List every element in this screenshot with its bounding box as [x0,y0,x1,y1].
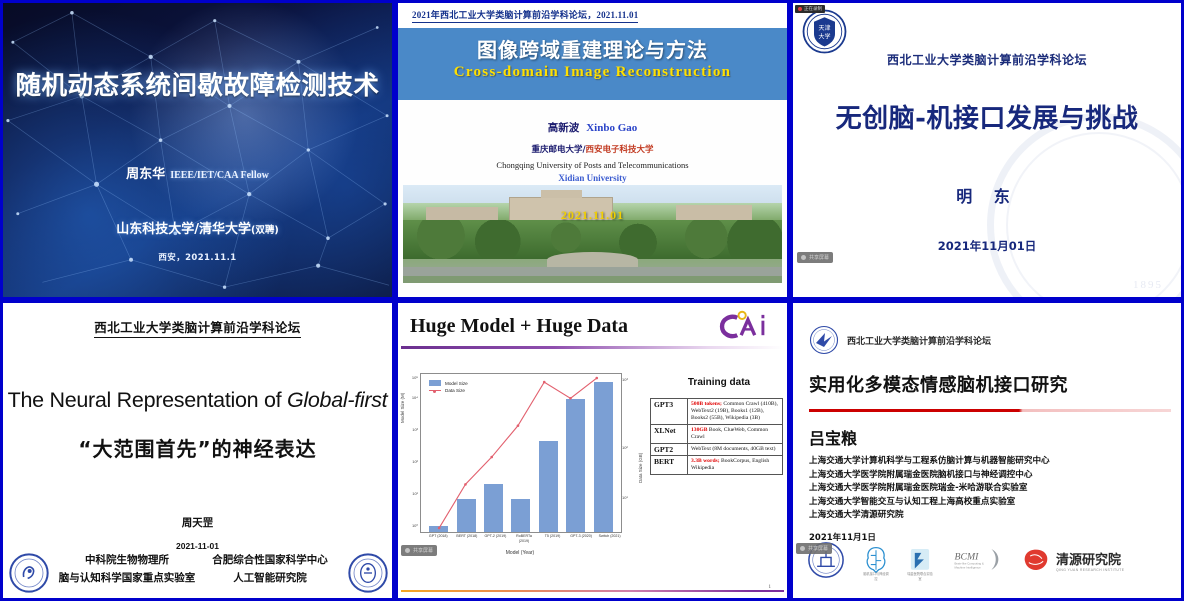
y2tick-2: 10³ [622,377,628,382]
screen-share-chip[interactable]: 共享屏幕 [401,545,437,556]
table-cell-detail: 130GB Book, ClueWeb, Common Crawl [688,425,783,444]
org-left-line-1: 中科院生物物理所 [47,551,207,569]
organization-left: 中科院生物物理所 脑与认知科学国家重点实验室 [47,551,207,587]
forum-header: 2021年西北工业大学类脑计算前沿学科论坛，2021.11.01 [412,8,638,23]
org-cn-primary: 重庆邮电大学/ [531,145,585,155]
training-data-title: Training data [650,377,788,388]
record-dot-icon [798,7,802,11]
hefei-ai-institute-seal-icon [348,553,388,593]
recording-indicator-chip: 正在录制 [795,5,825,13]
recording-label: 正在录制 [804,6,822,12]
svg-text:大学: 大学 [818,32,830,40]
table-cell-highlight: 3.3B words; [691,458,720,464]
panel-title: Huge Model + Huge Data [410,315,628,338]
table-cell-model: XLNet [651,425,688,444]
author-english: Xinbo Gao [586,122,637,134]
affiliation-suffix: (双聘) [251,225,279,236]
qingyuan-logo: 清源研究院 QING YUAN RESEARCH INSTITUTE [1021,540,1124,580]
ytick-2: 10² [412,459,418,464]
chart-y-axis-ticks: 10⁰ 10¹ 10² 10³ 10⁴ 10⁵ [404,373,418,531]
panel-title: 无创脑-机接口发展与挑战 [793,98,1181,135]
forum-header: 西北工业大学类脑计算前沿学科论坛 [3,317,392,336]
org-cn-secondary: 西安电子科技大学 [586,145,654,155]
y2tick-1: 10² [622,445,628,450]
author-chinese: 高新波 [548,122,580,134]
title-chinese: 图像跨域重建理论与方法 [398,34,787,63]
forum-subtitle: 西北工业大学类脑计算前沿学科论坛 [793,51,1181,68]
share-label: 共享屏幕 [413,547,433,554]
title-english: The Neural Representation of Global-firs… [3,388,392,413]
bcmi-sub-2: Machine Intelligence [954,566,981,570]
ytick-5: 10⁵ [412,375,418,380]
presenter-name: 周天罡 [3,515,392,530]
organization-right: 合肥综合性国家科学中心 人工智能研究院 [190,551,350,587]
slide-panel-cross-domain[interactable]: 2021年西北工业大学类脑计算前沿学科论坛，2021.11.01 图像跨域重建理… [395,0,790,300]
model-size-chart: Model Size Data Size [420,373,622,533]
forum-header-text: 西北工业大学类脑计算前沿学科论坛 [94,320,300,338]
affiliation-main: 山东科技大学/清华大学 [116,222,251,237]
presenter-name: 明 东 [793,183,1181,207]
presenter-affiliation: 山东科技大学/清华大学(双聘) [3,218,392,237]
presenter-name: 吕宝粮 [809,425,857,449]
slide-panel-affective-bci[interactable]: 西北工业大学类脑计算前沿学科论坛 实用化多模态情感脑机接口研究 吕宝粮 上海交通… [790,300,1184,601]
title-underline-rule [809,409,1171,412]
presentation-date: 2021-11-01 [3,541,392,551]
presentation-date: 2021年11月01日 [793,238,1181,254]
table-cell-highlight: 500B tokens; [691,401,722,407]
photo-lawn [403,276,782,283]
title-english-plain: The Neural Representation of [8,388,287,412]
qingyuan-label-cn: 清源研究院 [1056,549,1124,568]
ytick-0: 10⁰ [412,523,418,528]
xtick-switch: Switch (2021) [598,534,622,544]
chart-y-axis-label: Model Size (M) [400,393,405,423]
presenter-name: 周东华 [126,167,165,182]
panel-title: 实用化多模态情感脑机接口研究 [809,371,1068,397]
chart-x-axis-ticks: GPT (2018) BERT (2018) GPT-2 (2019) RoBE… [420,534,628,544]
slide-panel-stochastic-fault[interactable]: 随机动态系统间歇故障检测技术 周东华IEEE/IET/CAA Fellow 山东… [0,0,395,300]
organization-chinese: 重庆邮电大学/西安电子科技大学 [398,143,787,155]
campus-photo [403,185,782,283]
affiliation-line: 上海交通大学医学院附属瑞金医院脑机接口与神经调控中心 [809,469,1050,483]
slide-header-bar: 2021年西北工业大学类脑计算前沿学科论坛，2021.11.01 [398,3,787,28]
qingyuan-brain-icon [1021,547,1051,573]
logo-caption: 瑞金医院联合实验室 [907,571,933,581]
table-cell-detail: WebText (8M documents, 40GB text) [688,444,783,456]
presentation-date: 西安，2021.11.1 [3,251,392,263]
table-cell-model: GPT3 [651,399,688,425]
forum-header: 西北工业大学类脑计算前沿学科论坛 [847,334,991,347]
affiliation-line: 上海交通大学智能交互与认知工程上海高校重点实验室 [809,496,1050,510]
chart-x-axis-label: Model (Year) [420,550,620,556]
screen-share-chip[interactable]: 共享屏幕 [796,543,832,554]
table-cell-text: WebText (8M documents, 40GB text) [691,446,775,452]
title-underline-rule [401,346,784,349]
share-label: 共享屏幕 [808,545,828,552]
slide-panel-huge-model[interactable]: Huge Model + Huge Data Model Size Data S… [395,300,790,601]
presenter-line: 周东华IEEE/IET/CAA Fellow [3,163,392,183]
slide-panel-global-first[interactable]: 西北工业大学类脑计算前沿学科论坛 The Neural Representati… [0,300,395,601]
slide-grid-screenshot: 随机动态系统间歇故障检测技术 周东华IEEE/IET/CAA Fellow 山东… [0,0,1184,601]
share-screen-icon [800,546,805,551]
bcmi-sub-1: Brain-like Computing & [954,562,983,566]
presentation-date: 2021.11.01 [398,208,787,223]
footer-rule [401,590,784,592]
presenter-fellowship: IEEE/IET/CAA Fellow [170,170,269,181]
data-size-line-series [421,374,621,532]
photo-plaza [547,252,638,268]
xtick-gpt: GPT (2018) [426,534,450,544]
title-chinese: “大范围首先”的神经表达 [3,433,392,462]
ytick-4: 10⁴ [412,395,418,400]
xtick-t5: T5 (2019) [541,534,565,544]
xtick-gpt2: GPT-2 (2019) [483,534,507,544]
svg-text:BCMI: BCMI [954,551,979,562]
affiliation-line: 上海交通大学计算机科学与工程系仿脑计算与机器智能研究中心 [809,455,1050,469]
title-band: 图像跨域重建理论与方法 Cross-domain Image Reconstru… [398,28,787,100]
author-line: 高新波Xinbo Gao [398,118,787,136]
table-cell-detail: 3.3B words; BookCorpus, English Wikipedi… [688,456,783,475]
table-row: XLNet 130GB Book, ClueWeb, Common Crawl [651,425,783,444]
share-screen-icon [405,548,410,553]
qingyuan-label-en: QING YUAN RESEARCH INSTITUTE [1056,568,1124,572]
cas-biophysics-seal-icon [9,553,49,593]
org-left-line-2: 脑与认知科学国家重点实验室 [47,569,207,587]
y2tick-0: 10¹ [622,495,628,500]
title-english: Cross-domain Image Reconstruction [398,64,787,81]
table-row: GPT3 500B tokens; Common Crawl (410B), W… [651,399,783,425]
svg-text:天津: 天津 [818,25,830,32]
xtick-bert: BERT (2018) [455,534,479,544]
share-label: 共享屏幕 [809,254,829,261]
ytick-1: 10¹ [412,491,418,496]
organization-english-2: Xidian University [398,173,787,183]
affiliation-line: 上海交通大学清源研究院 [809,509,1050,523]
affiliation-line: 上海交通大学医学院附属瑞金医院瑞金-米哈游联合实验室 [809,482,1050,496]
table-cell-detail: 500B tokens; Common Crawl (410B), WebTex… [688,399,783,425]
bcmi-icon: BCMI Brain-like Computing & Machine Inte… [951,545,1003,575]
footer-logo-strip: 脑机接口与神经调控 瑞金医院联合实验室 BCMI Brain-like Comp… [807,538,1167,582]
table-cell-model: GPT2 [651,444,688,456]
panel-title: 随机动态系统间歇故障检测技术 [3,65,392,102]
neuro-center-logo: 瑞金医院联合实验室 [907,540,933,580]
training-data-table: GPT3 500B tokens; Common Crawl (410B), W… [650,398,783,475]
table-row: BERT 3.3B words; BookCorpus, English Wik… [651,456,783,475]
chart-secondary-y-axis-ticks: 10¹ 10² 10³ [622,373,636,531]
oai-logo-icon [717,309,775,343]
xtick-roberta: RoBERTa (2019) [512,534,536,544]
table-cell-highlight: 130GB [691,427,707,433]
brain-machine-lab-logo: 脑机接口与神经调控 [863,540,889,580]
chart-secondary-y-axis-label: Data Size (GB) [638,453,643,483]
presenter-affiliations: 上海交通大学计算机科学与工程系仿脑计算与机器智能研究中心 上海交通大学医学院附属… [809,455,1050,523]
watermark-year: 1895 [1133,279,1163,291]
slide-grid: 随机动态系统间歇故障检测技术 周东华IEEE/IET/CAA Fellow 山东… [0,0,1184,601]
xtick-gpt3: GPT-3 (2020) [569,534,593,544]
logo-caption: 脑机接口与神经调控 [863,571,889,581]
title-english-italic: Global-first [287,388,387,412]
bcmi-logo: BCMI Brain-like Computing & Machine Inte… [951,540,1003,580]
npu-logo-icon [809,325,839,355]
ytick-3: 10³ [412,427,418,432]
table-cell-model: BERT [651,456,688,475]
organization-english-1: Chongqing University of Posts and Teleco… [398,160,787,170]
slide-panel-bci-challenge[interactable]: 1895 天津 大学 正在录制 共享屏幕 西北工业大学类脑计算前沿学科论坛 无创… [790,0,1184,300]
share-screen-icon [801,255,806,260]
table-row: GPT2 WebText (8M documents, 40GB text) [651,444,783,456]
org-right-line-2: 人工智能研究院 [190,569,350,587]
tianjin-university-logo-icon: 天津 大学 [802,9,847,54]
org-right-line-1: 合肥综合性国家科学中心 [190,551,350,569]
